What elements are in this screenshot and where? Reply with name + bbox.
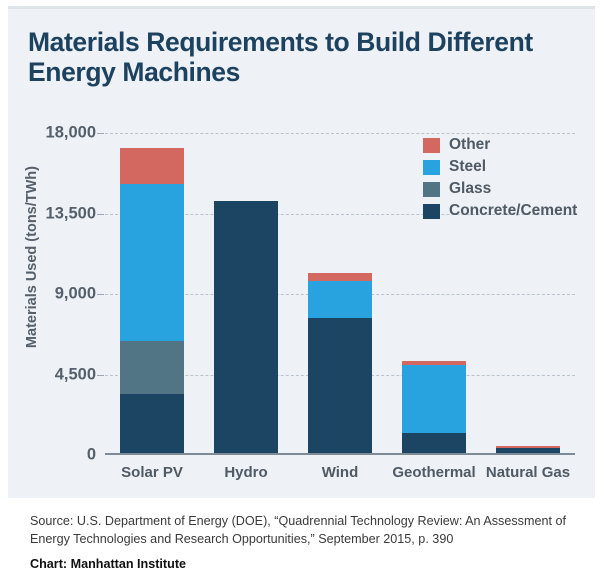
chart-credit: Chart: Manhattan Institute bbox=[30, 557, 575, 571]
legend-item-concrete-cement[interactable]: Concrete/Cement bbox=[423, 200, 577, 222]
legend-label-glass: Glass bbox=[449, 180, 491, 198]
y-axis-label: Materials Used (tons/TWh) bbox=[24, 166, 40, 348]
bar-column: Hydro bbox=[199, 133, 293, 455]
y-axis-tick-label: 9,000 bbox=[55, 285, 96, 304]
x-axis-tick-label: Hydro bbox=[224, 464, 267, 481]
bar-segment[interactable] bbox=[120, 148, 184, 184]
x-axis-line bbox=[105, 453, 575, 455]
legend-item-steel[interactable]: Steel bbox=[423, 156, 577, 178]
panel-top-rule bbox=[8, 6, 595, 9]
y-axis-tick-label: 0 bbox=[87, 446, 96, 465]
y-axis-tick-label: 18,000 bbox=[46, 124, 96, 143]
legend-label-concrete-cement: Concrete/Cement bbox=[449, 202, 577, 220]
bar-segment[interactable] bbox=[120, 341, 184, 394]
legend-swatch-concrete-cement bbox=[423, 204, 440, 219]
x-axis-tick-label: Solar PV bbox=[121, 464, 183, 481]
y-axis-tick-mark bbox=[97, 214, 104, 215]
bar-column: Wind bbox=[293, 133, 387, 455]
source-note: Source: U.S. Department of Energy (DOE),… bbox=[30, 512, 575, 549]
bar-segment[interactable] bbox=[120, 184, 184, 341]
bar-segment[interactable] bbox=[214, 201, 278, 455]
y-axis-tick-label: 13,500 bbox=[46, 204, 96, 223]
y-axis-tick-mark bbox=[97, 294, 104, 295]
chart-legend: Other Steel Glass Concrete/Cement bbox=[423, 134, 577, 222]
bar-segment[interactable] bbox=[402, 365, 466, 433]
bar-stack[interactable] bbox=[214, 201, 278, 455]
bar-stack[interactable] bbox=[308, 273, 372, 455]
legend-swatch-other bbox=[423, 138, 440, 153]
bar-segment[interactable] bbox=[308, 281, 372, 319]
y-axis-tick-mark bbox=[97, 133, 104, 134]
y-axis-tick-label: 4,500 bbox=[55, 365, 96, 384]
legend-swatch-steel bbox=[423, 160, 440, 175]
bar-stack[interactable] bbox=[120, 148, 184, 455]
legend-label-other: Other bbox=[449, 136, 490, 154]
bar-segment[interactable] bbox=[308, 273, 372, 280]
x-axis-tick-label: Wind bbox=[322, 464, 359, 481]
y-axis-tick-mark bbox=[97, 375, 104, 376]
legend-item-other[interactable]: Other bbox=[423, 134, 577, 156]
chart-figure: Materials Requirements to Build Differen… bbox=[0, 0, 603, 582]
x-axis-tick-label: Geothermal bbox=[392, 464, 475, 481]
legend-label-steel: Steel bbox=[449, 158, 486, 176]
bar-segment[interactable] bbox=[120, 394, 184, 455]
bar-column: Solar PV bbox=[105, 133, 199, 455]
chart-title: Materials Requirements to Build Differen… bbox=[28, 28, 573, 88]
legend-item-glass[interactable]: Glass bbox=[423, 178, 577, 200]
chart-panel: Materials Requirements to Build Differen… bbox=[8, 6, 595, 498]
bar-segment[interactable] bbox=[308, 318, 372, 455]
chart-footer: Source: U.S. Department of Energy (DOE),… bbox=[30, 512, 575, 571]
legend-swatch-glass bbox=[423, 182, 440, 197]
x-axis-tick-label: Natural Gas bbox=[486, 464, 570, 481]
bar-segment[interactable] bbox=[402, 433, 466, 455]
bar-stack[interactable] bbox=[402, 361, 466, 455]
